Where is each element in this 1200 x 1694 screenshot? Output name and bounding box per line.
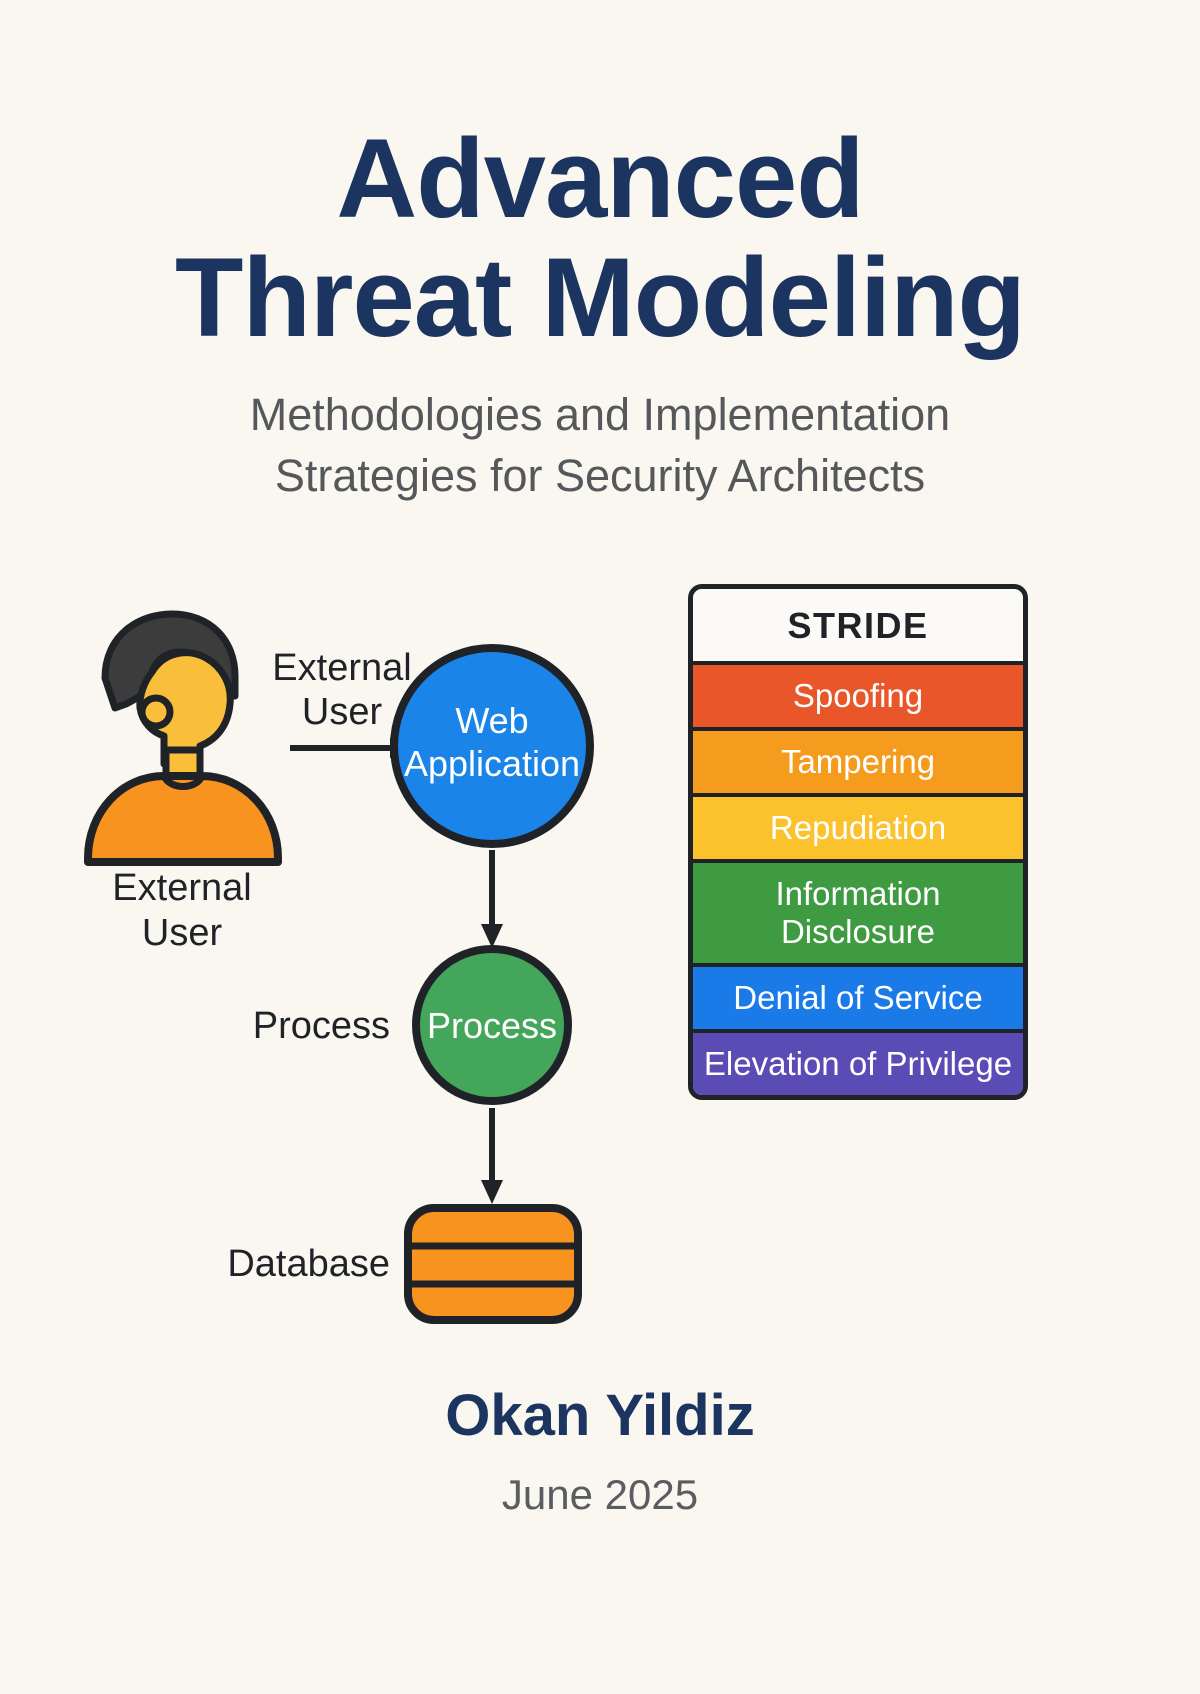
author-name: Okan Yildiz — [0, 1382, 1200, 1449]
book-cover: Advanced Threat Modeling Methodologies a… — [0, 0, 1200, 1694]
node-web-application: Web Application — [394, 648, 590, 844]
node-process: Process — [416, 949, 568, 1101]
edge-webapp-to-process — [481, 850, 503, 948]
external-user-caption-2: User — [142, 912, 223, 954]
stride-row-denial-of-service: Denial of Service — [693, 967, 1023, 1033]
stride-row-repudiation: Repudiation — [693, 797, 1023, 863]
node-web-application-label-1: Web — [455, 700, 528, 741]
title-line-2: Threat Modeling — [0, 239, 1200, 358]
stride-panel-header: STRIDE — [693, 589, 1023, 665]
stride-row-spoofing: Spoofing — [693, 665, 1023, 731]
edge-label-external-user-1: External — [272, 647, 411, 689]
edge-process-to-database — [481, 1108, 503, 1204]
node-database-caption: Database — [227, 1243, 390, 1285]
author-block: Okan Yildiz June 2025 — [0, 1382, 1200, 1519]
subtitle-line-2: Strategies for Security Architects — [0, 446, 1200, 507]
external-user-icon — [88, 614, 278, 862]
stride-row-elevation-of-privilege: Elevation of Privilege — [693, 1033, 1023, 1095]
stride-row-tampering: Tampering — [693, 731, 1023, 797]
node-web-application-label-2: Application — [404, 743, 580, 784]
title-line-1: Advanced — [0, 120, 1200, 239]
node-process-label: Process — [427, 1005, 557, 1046]
title-block: Advanced Threat Modeling — [0, 120, 1200, 357]
node-database — [408, 1208, 578, 1320]
publication-date: June 2025 — [0, 1471, 1200, 1519]
subtitle-line-1: Methodologies and Implementation — [0, 385, 1200, 446]
external-user-caption: External — [112, 867, 251, 909]
stride-panel: STRIDE Spoofing Tampering Repudiation In… — [688, 584, 1028, 1100]
node-process-caption: Process — [253, 1005, 390, 1047]
stride-row-information-disclosure: Information Disclosure — [693, 863, 1023, 967]
edge-label-external-user-2: User — [302, 691, 383, 733]
data-flow-diagram: External User External User Web Applicat… — [60, 600, 660, 1340]
subtitle-block: Methodologies and Implementation Strateg… — [0, 385, 1200, 507]
